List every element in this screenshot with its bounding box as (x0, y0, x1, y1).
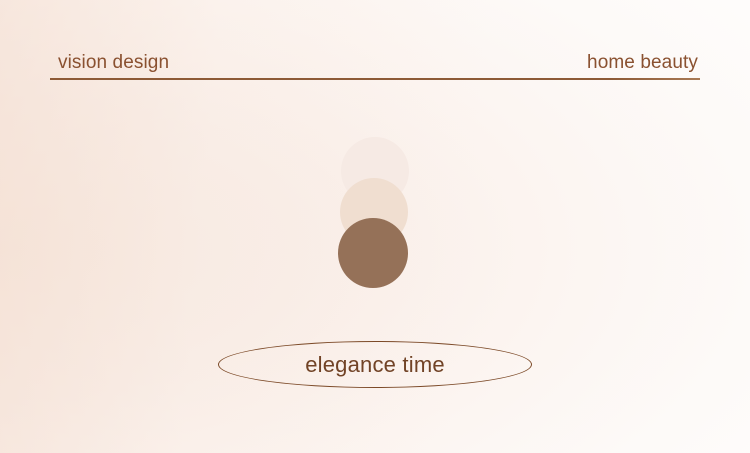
bottom-circle (338, 218, 408, 288)
header: vision design home beauty (50, 38, 700, 80)
badge-label: elegance time (218, 341, 532, 388)
header-left-label: vision design (58, 52, 169, 74)
header-right-label: home beauty (587, 52, 698, 74)
header-divider-rule (50, 78, 700, 80)
elegance-time-badge: elegance time (218, 341, 532, 388)
circle-stack (338, 137, 410, 289)
poster-canvas: vision design home beauty elegance time (0, 0, 750, 453)
